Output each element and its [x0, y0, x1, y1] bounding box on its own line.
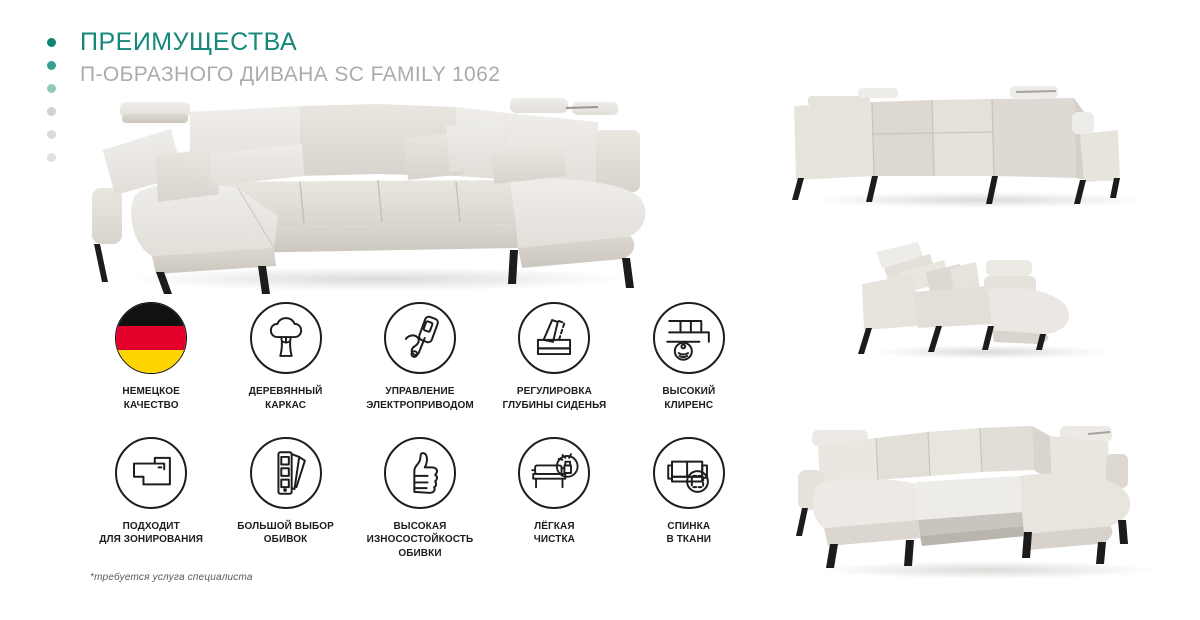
feature-item: РЕГУЛИРОВКАГЛУБИНЫ СИДЕНЬЯ — [487, 302, 621, 413]
feature-item: ВЫСОКИЙКЛИРЕНС — [622, 302, 756, 413]
flag-stripe-1 — [116, 303, 186, 326]
feature-icon-grid: НЕМЕЦКОЕКАЧЕСТВОДЕРЕВЯННЫЙКАРКАСУПРАВЛЕН… — [84, 302, 756, 561]
feature-label: УПРАВЛЕНИЕЭЛЕКТРОПРИВОДОМ — [366, 385, 474, 413]
decorative-dot-column — [44, 38, 58, 162]
high-clearance-icon — [653, 302, 725, 374]
easy-cleaning-icon — [518, 437, 590, 509]
dot-2 — [47, 61, 56, 70]
page-subtitle: П-ОБРАЗНОГО ДИВАНА SC FAMILY 1062 — [80, 63, 700, 87]
feature-item: БОЛЬШОЙ ВЫБОРОБИВОК — [218, 437, 352, 561]
german-flag-icon — [115, 302, 187, 374]
remote-control-icon — [384, 302, 456, 374]
feature-label: ВЫСОКАЯИЗНОСОСТОЙКОСТЬОБИВКИ — [367, 520, 474, 561]
feature-item: СПИНКАВ ТКАНИ — [622, 437, 756, 561]
fabric-swatches-icon — [250, 437, 322, 509]
feature-item: НЕМЕЦКОЕКАЧЕСТВО — [84, 302, 218, 413]
feature-item: ПОДХОДИТДЛЯ ЗОНИРОВАНИЯ — [84, 437, 218, 561]
page-heading: ПРЕИМУЩЕСТВА П-ОБРАЗНОГО ДИВАНА SC FAMIL… — [80, 28, 700, 87]
dot-1 — [47, 38, 56, 47]
feature-label: ПОДХОДИТДЛЯ ЗОНИРОВАНИЯ — [99, 520, 203, 548]
dot-4 — [47, 107, 56, 116]
footnote: *требуется услуга специалиста — [90, 572, 253, 583]
feature-label: БОЛЬШОЙ ВЫБОРОБИВОК — [237, 520, 334, 548]
sofa-photo-side-view — [840, 228, 1140, 364]
feature-label: ЛЁГКАЯЧИСТКА — [534, 520, 575, 548]
thumbs-up-icon — [384, 437, 456, 509]
feature-item: ДЕРЕВЯННЫЙКАРКАС — [218, 302, 352, 413]
flag-stripe-3 — [116, 350, 186, 373]
product-benefits-page: ПРЕИМУЩЕСТВА П-ОБРАЗНОГО ДИВАНА SC FAMIL… — [0, 0, 1200, 620]
sofa-photo-main-three-quarter — [78, 96, 688, 296]
page-title: ПРЕИМУЩЕСТВА — [80, 28, 700, 57]
feature-label: НЕМЕЦКОЕКАЧЕСТВО — [122, 385, 180, 413]
seat-depth-icon — [518, 302, 590, 374]
feature-label: РЕГУЛИРОВКАГЛУБИНЫ СИДЕНЬЯ — [503, 385, 607, 413]
tree-icon — [250, 302, 322, 374]
flag-stripe-2 — [116, 326, 186, 349]
dot-5 — [47, 130, 56, 139]
feature-item: УПРАВЛЕНИЕЭЛЕКТРОПРИВОДОМ — [353, 302, 487, 413]
feature-label: СПИНКАВ ТКАНИ — [667, 520, 712, 548]
feature-item: ВЫСОКАЯИЗНОСОСТОЙКОСТЬОБИВКИ — [353, 437, 487, 561]
feature-item: ЛЁГКАЯЧИСТКА — [487, 437, 621, 561]
sofa-photo-rear-view — [780, 72, 1180, 212]
dot-3 — [47, 84, 56, 93]
sofa-photo-bed-unfolded — [788, 408, 1188, 588]
fabric-back-icon — [653, 437, 725, 509]
feature-label: ДЕРЕВЯННЫЙКАРКАС — [249, 385, 323, 413]
zoning-plan-icon — [115, 437, 187, 509]
feature-label: ВЫСОКИЙКЛИРЕНС — [662, 385, 715, 413]
dot-6 — [47, 153, 56, 162]
